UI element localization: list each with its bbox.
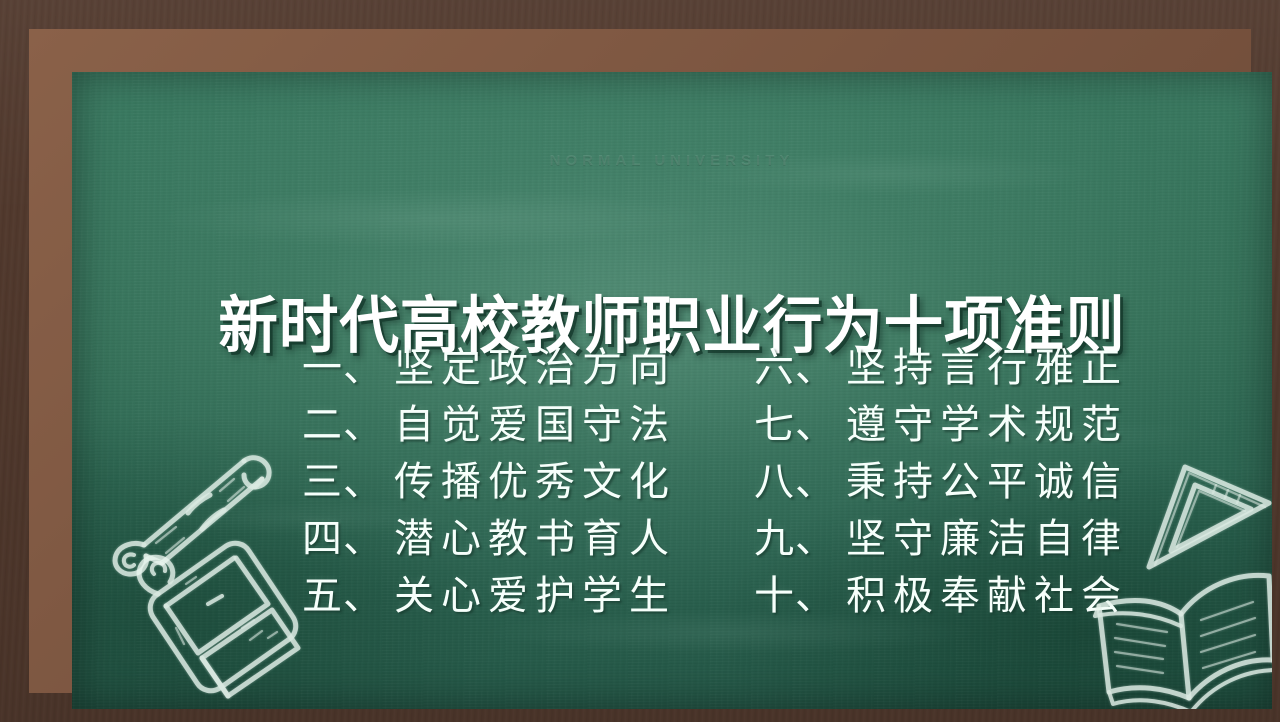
- chalkboard-surface: NORMAL UNIVERSITY 新时代高校教师职业行为十项准则 一、 坚定政…: [72, 72, 1272, 709]
- rule-number: 四、: [302, 511, 394, 568]
- rule-label: 坚定政治方向: [394, 340, 676, 397]
- board-watermark-text: NORMAL UNIVERSITY: [72, 152, 1272, 169]
- rule-label: 遵守学术规范: [846, 397, 1128, 454]
- rules-column-right: 六、 坚持言行雅正 七、 遵守学术规范 八、 秉持公平诚信 九、 坚守廉洁自律: [754, 340, 1128, 625]
- rule-label: 自觉爱国守法: [394, 397, 676, 454]
- rule-item: 四、 潜心教书育人: [302, 511, 676, 568]
- blackboard-outer-frame: NORMAL UNIVERSITY 新时代高校教师职业行为十项准则 一、 坚定政…: [0, 0, 1280, 722]
- rule-item: 八、 秉持公平诚信: [754, 454, 1128, 511]
- rule-number: 七、: [754, 397, 846, 454]
- rule-number: 十、: [754, 568, 846, 625]
- rule-number: 六、: [754, 340, 846, 397]
- rules-list: 一、 坚定政治方向 二、 自觉爱国守法 三、 传播优秀文化 四、 潜心教书育人: [115, 340, 1272, 625]
- rule-item: 一、 坚定政治方向: [302, 340, 676, 397]
- rule-item: 二、 自觉爱国守法: [302, 397, 676, 454]
- rule-label: 坚守廉洁自律: [846, 511, 1128, 568]
- rule-label: 秉持公平诚信: [846, 454, 1128, 511]
- rule-item: 五、 关心爱护学生: [302, 568, 676, 625]
- rule-number: 九、: [754, 511, 846, 568]
- rule-label: 关心爱护学生: [394, 568, 676, 625]
- rule-label: 传播优秀文化: [394, 454, 676, 511]
- rule-number: 五、: [302, 568, 394, 625]
- rule-item: 十、 积极奉献社会: [754, 568, 1128, 625]
- rule-item: 三、 传播优秀文化: [302, 454, 676, 511]
- rules-column-left: 一、 坚定政治方向 二、 自觉爱国守法 三、 传播优秀文化 四、 潜心教书育人: [302, 340, 676, 625]
- blackboard-inner-bevel: NORMAL UNIVERSITY 新时代高校教师职业行为十项准则 一、 坚定政…: [29, 29, 1251, 693]
- rule-label: 坚持言行雅正: [846, 340, 1128, 397]
- rule-number: 八、: [754, 454, 846, 511]
- rule-item: 七、 遵守学术规范: [754, 397, 1128, 454]
- rule-label: 积极奉献社会: [846, 568, 1128, 625]
- rule-number: 二、: [302, 397, 394, 454]
- rule-item: 六、 坚持言行雅正: [754, 340, 1128, 397]
- rule-number: 一、: [302, 340, 394, 397]
- rule-item: 九、 坚守廉洁自律: [754, 511, 1128, 568]
- rule-number: 三、: [302, 454, 394, 511]
- rule-label: 潜心教书育人: [394, 511, 676, 568]
